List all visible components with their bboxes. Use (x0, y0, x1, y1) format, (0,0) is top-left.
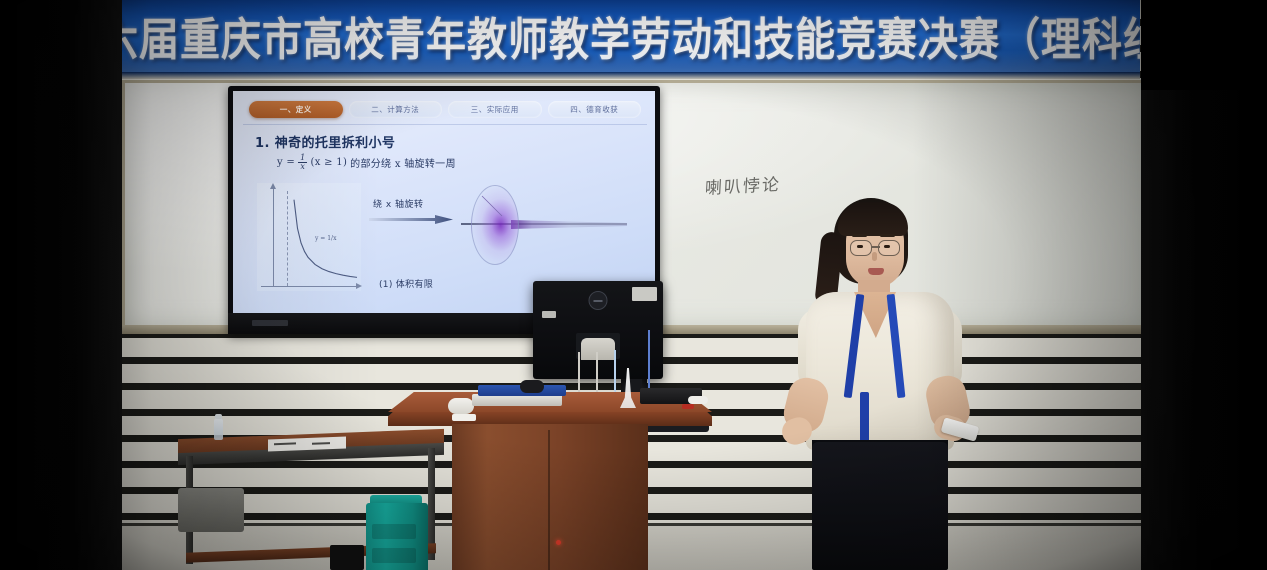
wall-lighting-shade (0, 0, 1267, 570)
classroom-scene: 喇叭悖论 一、定义 二、计算方法 三、实际应用 四、德育收获 1. 神奇的托里拆… (0, 0, 1267, 570)
